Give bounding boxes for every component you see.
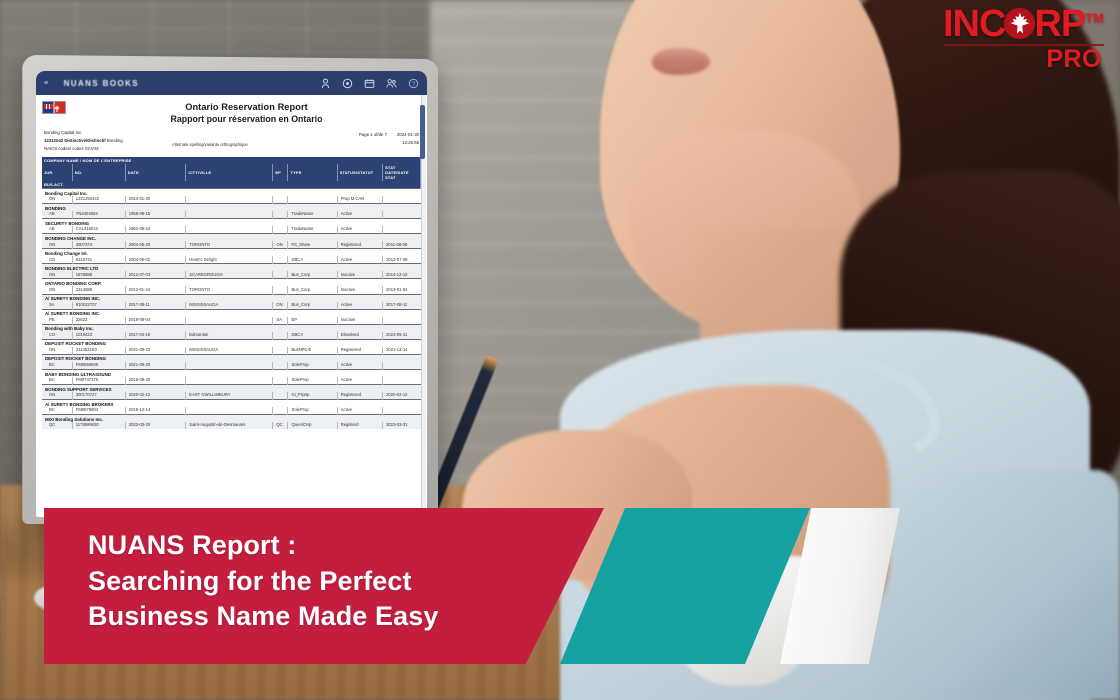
cell-ep	[273, 271, 288, 279]
cell-city	[186, 226, 273, 234]
cell-jur: BC	[42, 407, 72, 415]
col-jur[interactable]: JUR	[42, 164, 72, 181]
cell-company-name: BONDING CHANGE INC.	[42, 234, 421, 241]
cell-date: 2020-02-12	[125, 392, 186, 400]
meta-naics: NAICS codes/ codes SCIAN:	[44, 145, 123, 153]
cell-company-name: ONTARIO BONDING CORP.	[42, 279, 421, 286]
banner-line-3: Business Name Made Easy	[88, 599, 544, 635]
cell-type: BusNPCrb	[288, 347, 337, 355]
meta-date: 2024-01-30	[397, 131, 419, 139]
app-toolbar: ≡ NUANS BOOKS ?	[36, 71, 427, 95]
col-no[interactable]: NO.	[72, 164, 125, 181]
cell-statdate	[383, 377, 421, 385]
col-company: COMPANY NAME / NOM DE L'ENTREPRISE	[42, 157, 421, 164]
cell-city	[186, 407, 273, 415]
cell-status: Active	[337, 256, 382, 264]
cell-date: 2017-04-18	[125, 332, 186, 340]
cell-jur: SA	[42, 302, 72, 310]
table-row-name[interactable]: Bonding with Baby Inc.	[42, 324, 421, 331]
cell-type: Bus_Corp	[288, 271, 337, 279]
cell-company-name: Bonding with Baby Inc.	[42, 324, 421, 331]
cell-date: 2015-12-14	[125, 407, 186, 415]
cell-status: Dissolved	[337, 332, 382, 340]
cell-company-name: A/ SURETY BONDING INC.	[42, 294, 421, 301]
maple-leaf-icon	[1004, 8, 1035, 39]
table-row-detail[interactable]: BCFM05595052021-09-20SolePropActive	[42, 362, 421, 370]
table-row-name[interactable]: DEPOSIT ROCKET BONDING	[42, 354, 421, 361]
cell-city: Heart's Delight	[186, 256, 273, 264]
table-row-detail[interactable]: ON22140882012-01-24TORONTOBus_CorpInacti…	[42, 286, 421, 294]
cell-city	[186, 317, 273, 325]
table-row-detail[interactable]: ON3113622K32021-09-23MISSISSAUGABusNPCrb…	[42, 347, 421, 355]
col-type[interactable]: TYPE	[288, 164, 337, 181]
col-statdate[interactable]: STAT DATE/DATE STAT	[383, 164, 421, 181]
cell-city	[186, 211, 273, 219]
meta-time: 12:25:55	[397, 139, 419, 147]
cell-no: FM0747375	[72, 377, 125, 385]
cell-ep: ON	[273, 302, 288, 310]
table-row-detail[interactable]: ABTN44045631959-09-15TradeNameActive	[42, 211, 421, 219]
report-meta: Bonding Capital Inc. 12312042 Distinctiv…	[42, 129, 421, 155]
cell-ep: QC	[273, 422, 288, 429]
cell-status: Inactive	[337, 286, 382, 294]
cell-city	[186, 362, 273, 370]
cell-company-name: Bonding Capital Inc.	[42, 189, 421, 196]
table-row-name[interactable]: DEPOSIT ROCKET BONDING	[42, 339, 421, 346]
table-header-cols: JUR NO. DATE CITY/VILLE EP TYPE STATUS/S…	[42, 164, 421, 181]
cell-statdate	[383, 196, 421, 204]
cell-ep	[273, 347, 288, 355]
cell-no: 910022707	[72, 302, 125, 310]
cell-status: Active	[337, 302, 382, 310]
cell-company-name: SECURITY BONDING	[42, 219, 421, 226]
table-row-detail[interactable]: PE326222018-08-04SAEPInactive	[42, 317, 421, 325]
table-row-detail[interactable]: QC11785896302023-03-20Saint-Augustin-de-…	[42, 422, 421, 429]
cell-date: 2012-01-24	[125, 286, 186, 294]
report-title-en: Ontario Reservation Report	[72, 102, 421, 112]
cell-status: Inactive	[337, 317, 382, 325]
cell-city: Saint-Augustin-de-Desmaures	[186, 422, 273, 429]
cell-status: Registered	[337, 347, 382, 355]
meta-ref-no: 12312042	[44, 138, 63, 143]
cell-city: TORONTO	[186, 241, 273, 249]
cell-city: EAST GWILLIMBURY	[186, 392, 273, 400]
results-table: COMPANY NAME / NOM DE L'ENTREPRISE JUR N…	[42, 157, 421, 429]
cell-date: 1962-08-24	[125, 226, 186, 234]
cell-ep	[273, 256, 288, 264]
cell-no: 3113622K3	[72, 347, 125, 355]
col-busact: BUS.ACT.	[42, 181, 421, 189]
cell-date: 2016-09-30	[125, 377, 186, 385]
cell-no: 8215741	[72, 256, 125, 264]
table-row-detail[interactable]: ON18788882012-07-03SCARBOROUGHBus_CorpIn…	[42, 271, 421, 279]
cell-no: 1178589630	[72, 422, 125, 429]
cell-no: 3007374	[72, 241, 125, 249]
table-row-detail[interactable]: ABCAL3160131962-08-24TradeNameActive	[42, 226, 421, 234]
report-meta-left: Bonding Capital Inc. 12312042 Distinctiv…	[44, 129, 123, 153]
cell-company-name: BONDING ELECTRIC LTD	[42, 264, 421, 271]
logo-divider	[944, 44, 1104, 46]
cell-type: Bus_Corp	[288, 286, 337, 294]
cell-jur: CO	[42, 332, 72, 340]
table-row-name[interactable]: A/ SURETY BONDING BROKERS	[42, 400, 421, 407]
table-row-name[interactable]: A/ SURETY BONDING INC.	[42, 294, 421, 301]
cell-city	[186, 377, 273, 385]
laptop-screen: ≡ NUANS BOOKS ?	[36, 71, 427, 517]
table-row-name[interactable]: A/ SURETY BONDING INC.	[42, 309, 421, 316]
cell-statdate: 2021-12-14	[383, 347, 421, 355]
cell-status: Active	[337, 362, 382, 370]
table-row-detail[interactable]: ON12212504422024-01-30Prop.M.CAN	[42, 196, 421, 204]
app-title: NUANS BOOKS	[64, 79, 139, 88]
cell-company-name: DEPOSIT ROCKET BONDING	[42, 339, 421, 346]
col-city[interactable]: CITY/VILLE	[186, 164, 273, 181]
banner-headline: NUANS Report : Searching for the Perfect…	[88, 528, 544, 635]
menu-icon[interactable]: ≡	[44, 80, 49, 87]
cell-type: QueAlCHp	[288, 422, 337, 429]
nuans-report-document: Ontario Reservation Report Rapport pour …	[36, 95, 427, 517]
cell-status: Active	[337, 407, 382, 415]
cell-date: 2004-05-02	[125, 256, 186, 264]
cell-date: 2024-01-30	[125, 196, 186, 204]
cell-ep	[273, 377, 288, 385]
cell-date: 2004-05-20	[125, 241, 186, 249]
cell-date: 2012-07-03	[125, 271, 186, 279]
table-row-name[interactable]: BONDING SUPPORT SERVICES	[42, 385, 421, 392]
table-row-name[interactable]: Bonding Change Inl.	[42, 249, 421, 256]
cell-ep: SA	[273, 317, 288, 325]
cell-statdate: 2023-05-11	[383, 332, 421, 340]
ontario-flag-icon	[42, 101, 66, 114]
cell-ep	[273, 362, 288, 370]
headline-banner: NUANS Report : Searching for the Perfect…	[44, 508, 604, 664]
cell-jur: BC	[42, 362, 72, 370]
table-row-detail[interactable]: CO10194232017-04-18EdmontonDBCADissolved…	[42, 332, 421, 340]
table-row-detail[interactable]: SA9100227072017-08-11MISSISSAUGAONBus_Co…	[42, 302, 421, 310]
calendar-icon[interactable]	[364, 78, 375, 89]
cell-date: 1959-09-15	[125, 211, 186, 219]
table-row-name[interactable]: SECURITY BONDING	[42, 219, 421, 226]
cell-status: Registerd	[337, 422, 382, 429]
banner-line-2: Searching for the Perfect	[88, 564, 544, 600]
cell-statdate	[383, 317, 421, 325]
col-status[interactable]: STATUS/STATUT	[337, 164, 382, 181]
cell-status: Active	[337, 226, 382, 234]
logo-wordmark: INCRPTM	[943, 5, 1104, 43]
cell-jur: ON	[42, 286, 72, 294]
meta-page: Page 1 of/de 7	[359, 131, 387, 139]
cell-status: Prop.M.CAN	[337, 196, 382, 204]
cell-company-name: BONDING SUPPORT SERVICES	[42, 385, 421, 392]
table-header-busact: BUS.ACT.	[42, 181, 421, 189]
cell-type	[288, 196, 337, 204]
group-icon[interactable]	[386, 78, 397, 89]
laptop: ≡ NUANS BOOKS ?	[24, 57, 440, 522]
record-icon[interactable]	[342, 78, 353, 89]
cell-city: MISSISSAUGA	[186, 347, 273, 355]
cell-no: 1878888	[72, 271, 125, 279]
cell-statdate: 2017-08-11	[383, 302, 421, 310]
meta-distinctive: Distinctive/Distinctif	[64, 138, 105, 143]
report-titles: Ontario Reservation Report Rapport pour …	[72, 102, 421, 124]
table-row-name[interactable]: ONTARIO BONDING CORP.	[42, 279, 421, 286]
cell-ep: ON	[273, 241, 288, 249]
brand-logo: INCRPTM PRO	[904, 5, 1104, 72]
cell-jur: ON	[42, 347, 72, 355]
cell-jur: QC	[42, 422, 72, 429]
meta-datetime: 2024-01-30 12:25:55	[397, 131, 419, 147]
col-ep[interactable]: EP	[273, 164, 288, 181]
table-row-detail[interactable]: BCFM08798042015-12-14SolePropActive	[42, 407, 421, 415]
cell-statdate	[383, 211, 421, 219]
cell-company-name: BONDING	[42, 204, 421, 211]
cell-jur: AB	[42, 226, 72, 234]
cell-statdate	[383, 362, 421, 370]
table-row-name[interactable]: BONDING ELECTRIC LTD	[42, 264, 421, 271]
report-scrollbar[interactable]	[421, 95, 426, 517]
cell-status: Active	[337, 211, 382, 219]
table-header-top: COMPANY NAME / NOM DE L'ENTREPRISE	[42, 157, 421, 164]
cell-no: 1019423	[72, 332, 125, 340]
report-title-fr: Rapport pour réservation en Ontario	[72, 114, 421, 124]
cell-jur: PE	[42, 317, 72, 325]
cell-ep	[273, 286, 288, 294]
cell-statdate	[383, 407, 421, 415]
meta-alt-spelling: Alternate spelling/variante orthographiq…	[172, 142, 248, 147]
table-row-detail[interactable]: ON3001707272020-02-12EAST GWILLIMBURYGi_…	[42, 392, 421, 400]
table-body: Bonding Capital Inc.ON12212504422024-01-…	[42, 189, 421, 430]
cell-status: Registered	[337, 241, 382, 249]
cell-company-name: MIXI Bonding Solutions Inc.	[42, 415, 421, 422]
lips	[652, 48, 710, 75]
banner-line-1: NUANS Report :	[88, 528, 544, 564]
cell-no: FM0879804	[72, 407, 125, 415]
cell-no: 32622	[72, 317, 125, 325]
person-icon[interactable]	[320, 78, 331, 89]
cell-company-name: A/ SURETY BONDING BROKERS	[42, 400, 421, 407]
cell-company-name: BABY BONDING ULTRASOUND	[42, 369, 421, 376]
cell-type: SoleProp	[288, 407, 337, 415]
meta-descriptive: Bonding	[107, 138, 123, 143]
cell-statdate: 2014-12-12	[383, 271, 421, 279]
cell-no: 300170727	[72, 392, 125, 400]
logo-trademark: TM	[1085, 10, 1104, 25]
cell-city: Edmonton	[186, 332, 273, 340]
cell-type: FS_Share	[288, 241, 337, 249]
cell-no: FM0559505	[72, 362, 125, 370]
scrollbar-thumb[interactable]	[420, 105, 425, 159]
report-header: Ontario Reservation Report Rapport pour …	[42, 101, 421, 124]
cell-type: SoleProp	[288, 377, 337, 385]
cell-type: EP	[288, 317, 337, 325]
help-icon[interactable]: ?	[408, 78, 419, 89]
cell-jur: AB	[42, 211, 72, 219]
cell-city	[186, 196, 273, 204]
cell-ep	[273, 196, 288, 204]
cell-status: Registered	[337, 392, 382, 400]
cell-type: DBCA	[288, 256, 337, 264]
cell-date: 2021-09-20	[125, 362, 186, 370]
cell-company-name: Bonding Change Inl.	[42, 249, 421, 256]
toolbar-icons: ?	[320, 78, 419, 89]
logo-sub: PRO	[904, 47, 1102, 72]
cell-statdate: 2020-02-12	[383, 392, 421, 400]
table-row-detail[interactable]: CO82157412004-05-02Heart's DelightDBCAAc…	[42, 256, 421, 264]
cell-type: TradeName	[288, 211, 337, 219]
cell-jur: ON	[42, 196, 72, 204]
cell-statdate: 2023-03-31	[383, 422, 421, 429]
cell-date: 2017-08-11	[125, 302, 186, 310]
table-row-name[interactable]: BONDING	[42, 204, 421, 211]
cell-company-name: DEPOSIT ROCKET BONDING	[42, 354, 421, 361]
cell-jur: CO	[42, 256, 72, 264]
cell-ep	[273, 332, 288, 340]
cell-date: 2023-03-20	[125, 422, 186, 429]
cell-no: 2214088	[72, 286, 125, 294]
cell-ep	[273, 226, 288, 234]
table-row-name[interactable]: Bonding Capital Inc.	[42, 189, 421, 196]
cell-ep	[273, 392, 288, 400]
cell-ep	[273, 407, 288, 415]
cell-type: Gi_Prprtp	[288, 392, 337, 400]
cell-type: DBCA	[288, 332, 337, 340]
table-row-name[interactable]: MIXI Bonding Solutions Inc.	[42, 415, 421, 422]
cell-statdate: 2011-09-08	[383, 241, 421, 249]
table-header: COMPANY NAME / NOM DE L'ENTREPRISE JUR N…	[42, 157, 421, 189]
cell-statdate	[383, 226, 421, 234]
table-row-detail[interactable]: BCFM07473752016-09-30SolePropActive	[42, 377, 421, 385]
cell-city: MISSISSAUGA	[186, 302, 273, 310]
cell-city: TORONTO	[186, 286, 273, 294]
cell-city: SCARBOROUGH	[186, 271, 273, 279]
cell-type: SoleProp	[288, 362, 337, 370]
meta-company: Bonding Capital Inc.	[44, 129, 123, 137]
cell-statdate: 2013-07-08	[383, 256, 421, 264]
cell-type: Bus_Corp	[288, 302, 337, 310]
cell-no: CAL316013	[72, 226, 125, 234]
cell-date: 2018-08-04	[125, 317, 186, 325]
cell-jur: ON	[42, 241, 72, 249]
col-date[interactable]: DATE	[125, 164, 186, 181]
cell-jur: ON	[42, 392, 72, 400]
table-row-name[interactable]: BABY BONDING ULTRASOUND	[42, 369, 421, 376]
cell-type: TradeName	[288, 226, 337, 234]
table-row-detail[interactable]: ON30073742004-05-20TORONTOONFS_ShareRegi…	[42, 241, 421, 249]
cell-jur: ON	[42, 271, 72, 279]
cell-ep	[273, 211, 288, 219]
table-row-name[interactable]: BONDING CHANGE INC.	[42, 234, 421, 241]
cell-status: Active	[337, 377, 382, 385]
cell-no: 1221250442	[72, 196, 125, 204]
cell-date: 2021-09-23	[125, 347, 186, 355]
meta-line2: 12312042 Distinctive/Distinctif Bonding	[44, 137, 123, 145]
cell-jur: BC	[42, 377, 72, 385]
cell-company-name: A/ SURETY BONDING INC.	[42, 309, 421, 316]
sleeve	[880, 470, 1120, 700]
cell-no: TN4404563	[72, 211, 125, 219]
cell-statdate: 2013-01-04	[383, 286, 421, 294]
cell-status: Inactive	[337, 271, 382, 279]
